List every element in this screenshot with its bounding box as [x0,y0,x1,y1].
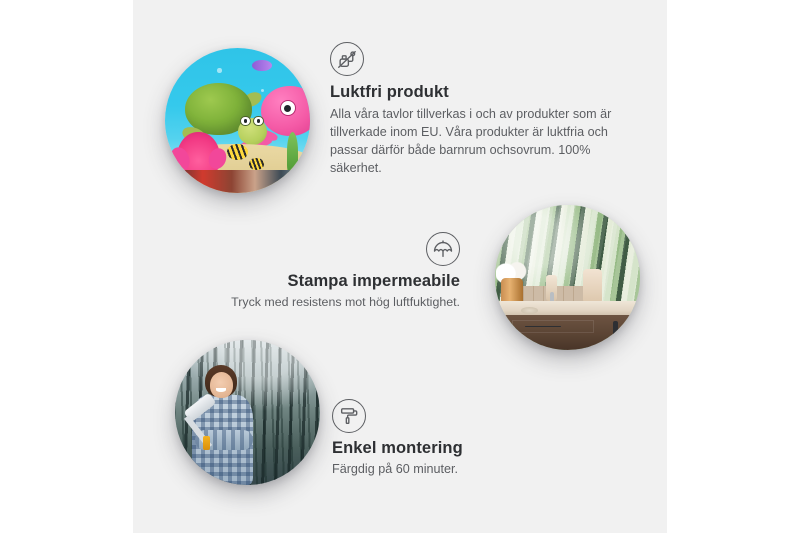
paint-roller-icon [332,399,366,433]
bubble-icon [261,89,264,92]
feature-odourless: Luktfri produkt Alla våra tavlor tillver… [330,42,622,178]
fish-yellow [249,158,264,170]
paint-roller-grip [203,436,210,451]
feature-description: Färgdig på 60 minuter. [332,461,582,479]
no-fragrance-icon [330,42,364,76]
feature-title: Stampa impermeabile [205,272,460,291]
feature-easy-install: Enkel montering Färgdig på 60 minuter. [332,399,582,479]
table-lamp [583,269,602,304]
sea-scene [165,48,310,193]
woman-face [210,372,233,398]
feature-waterproof: Stampa impermeabile Tryck med resistens … [205,232,460,312]
wood-vanity [504,315,640,350]
seaweed [287,132,299,173]
umbrella-icon [426,232,460,266]
octopus-eye [280,100,296,116]
feature-title: Luktfri produkt [330,83,622,102]
product-image-forest[interactable] [175,340,320,485]
turtle-eye [253,116,263,126]
feature-description: Alla våra tavlor tillverkas i och av pro… [330,106,622,178]
product-image-sea[interactable] [165,48,310,193]
bubble-icon [217,68,221,72]
turtle-eye [240,116,250,126]
coral [177,132,221,173]
fish-yellow [227,144,247,160]
feature-description: Tryck med resistens mot hög luftfuktighe… [205,294,460,312]
soap-dish [521,307,538,314]
product-feature-banner: Luktfri produkt Alla våra tavlor tillver… [0,0,800,533]
forest-scene [175,340,320,485]
product-image-bathroom[interactable] [495,205,640,350]
bathroom-scene [495,205,640,350]
cabinet-handle [613,321,618,339]
sea-foreground-strip [165,170,310,193]
feature-title: Enkel montering [332,439,582,458]
